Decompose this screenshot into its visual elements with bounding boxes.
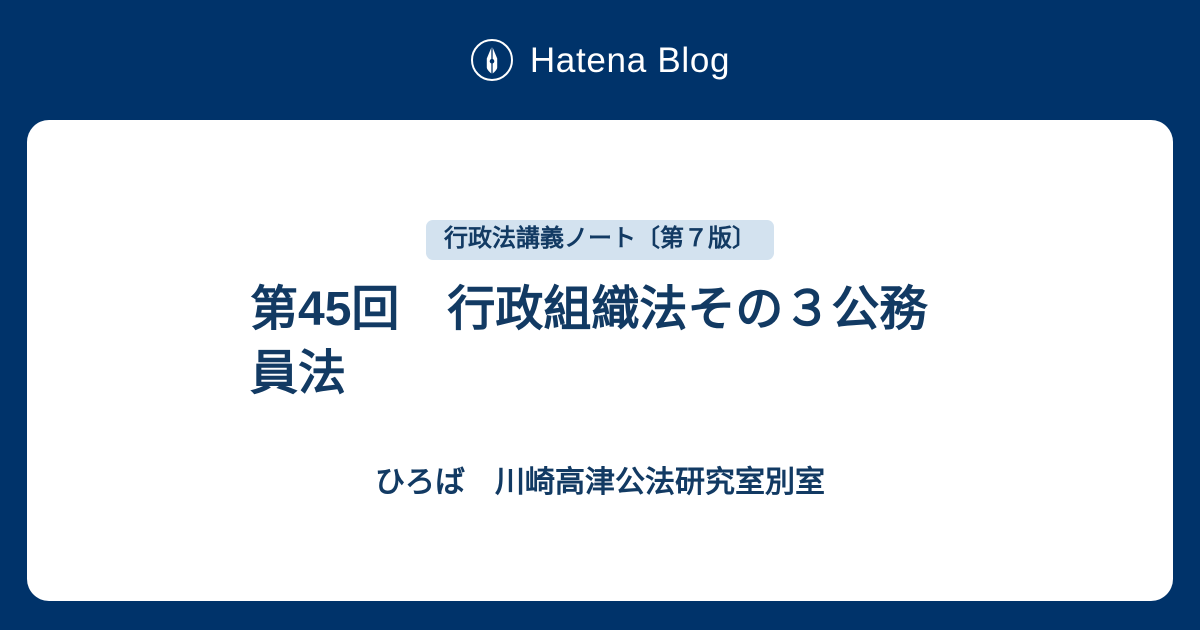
blog-title[interactable]: ひろば 川崎高津公法研究室別室 (375, 465, 825, 501)
brand-name: Hatena Blog (530, 43, 730, 78)
entry-card: 行政法講義ノート〔第７版〕 第45回 行政組織法その３公務員法 ひろば 川崎高津… (27, 120, 1173, 601)
fountain-pen-nib-in-circle-icon (470, 38, 514, 82)
entry-title: 第45回 行政組織法その３公務員法 (250, 278, 950, 405)
category-badge[interactable]: 行政法講義ノート〔第７版〕 (426, 220, 774, 260)
hatena-blog-header: Hatena Blog (0, 0, 1200, 120)
